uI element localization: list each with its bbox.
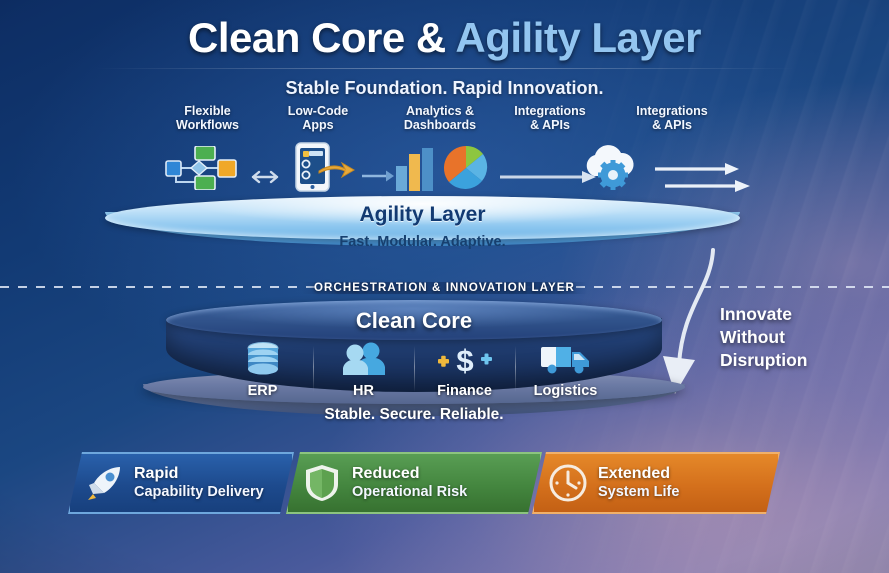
arrow-right-icon bbox=[362, 170, 394, 182]
agility-layer-disc: Agility Layer Fast. Modular. Adaptive. bbox=[105, 196, 740, 254]
pillar-separator bbox=[515, 346, 516, 392]
base-caption: Stable. Secure. Reliable. bbox=[143, 406, 685, 424]
pillar-label: Finance bbox=[419, 383, 511, 399]
benefit-line2: Capability Delivery bbox=[134, 483, 264, 501]
arrow-right-icon bbox=[250, 170, 286, 184]
clean-core-title: Clean Core bbox=[166, 308, 662, 334]
pillar-label: Logistics bbox=[520, 383, 612, 399]
rocket-icon bbox=[84, 463, 124, 503]
truck-icon bbox=[540, 342, 592, 376]
page-subtitle: Stable Foundation. Rapid Innovation. bbox=[0, 78, 889, 99]
pillar-erp[interactable]: ERP bbox=[217, 342, 309, 399]
pillar-hr[interactable]: HR bbox=[318, 342, 410, 399]
pillar-logistics[interactable]: Logistics bbox=[520, 342, 612, 399]
arrows-icon bbox=[655, 162, 750, 194]
pillar-separator bbox=[414, 346, 415, 392]
benefit-line2: System Life bbox=[598, 483, 679, 501]
agility-layer-subtitle: Fast. Modular. Adaptive. bbox=[105, 234, 740, 250]
clock-icon bbox=[548, 463, 588, 503]
pipeline-item-low-code-apps: Low-Code Apps bbox=[268, 104, 368, 132]
dollar-icon: $ bbox=[436, 342, 494, 376]
mobile-app-icon bbox=[290, 142, 358, 192]
clean-core-pillars: ERP HR $ Finance bbox=[166, 342, 662, 404]
pipeline-label: Integrations & APIs bbox=[612, 104, 732, 132]
agility-layer-title: Agility Layer bbox=[105, 203, 740, 227]
title-main: Clean Core & bbox=[188, 14, 455, 61]
innovate-without-disruption-note: Innovate Without Disruption bbox=[720, 303, 870, 372]
benefit-text: Extended System Life bbox=[598, 465, 679, 501]
pillar-label: ERP bbox=[217, 383, 309, 399]
svg-text:$: $ bbox=[456, 343, 473, 376]
database-icon bbox=[245, 342, 281, 376]
benefit-text: Reduced Operational Risk bbox=[352, 465, 467, 501]
benefit-text: Rapid Capability Delivery bbox=[134, 465, 264, 501]
benefits-row: Rapid Capability Delivery Reduced Operat… bbox=[68, 452, 828, 514]
pipeline-label: Integrations & APIs bbox=[495, 104, 605, 132]
charts-icon bbox=[394, 144, 492, 192]
people-icon bbox=[340, 342, 388, 376]
pipeline-label: Analytics & Dashboards bbox=[380, 104, 500, 132]
pipeline-item-integrations-apis-2: Integrations & APIs bbox=[612, 104, 732, 132]
page-title: Clean Core & Agility Layer bbox=[0, 14, 889, 62]
benefit-line1: Extended bbox=[598, 465, 679, 483]
pillar-separator bbox=[313, 346, 314, 392]
pipeline-item-integrations-apis-1: Integrations & APIs bbox=[495, 104, 605, 132]
cloud-gear-icon bbox=[578, 142, 648, 192]
pillar-label: HR bbox=[318, 383, 410, 399]
benefit-rapid-capability-delivery[interactable]: Rapid Capability Delivery bbox=[68, 452, 294, 514]
benefit-line2: Operational Risk bbox=[352, 483, 467, 501]
benefit-line1: Rapid bbox=[134, 465, 264, 483]
pipeline-item-analytics-dashboards: Analytics & Dashboards bbox=[380, 104, 500, 132]
pipeline-item-flexible-workflows: Flexible Workflows bbox=[150, 104, 265, 132]
pipeline-row: Flexible Workflows Low-Code Apps Analyti… bbox=[150, 104, 750, 202]
workflow-icon bbox=[162, 146, 254, 190]
divider-text: ORCHESTRATION & INNOVATION LAYER bbox=[302, 282, 587, 294]
benefit-reduced-operational-risk[interactable]: Reduced Operational Risk bbox=[286, 452, 542, 514]
pipeline-label: Flexible Workflows bbox=[150, 104, 265, 132]
title-accent: Agility Layer bbox=[455, 14, 701, 61]
benefit-line1: Reduced bbox=[352, 465, 467, 483]
shield-icon bbox=[302, 463, 342, 503]
title-divider-line bbox=[95, 68, 795, 69]
pillar-finance[interactable]: $ Finance bbox=[419, 342, 511, 399]
benefit-extended-system-life[interactable]: Extended System Life bbox=[532, 452, 780, 514]
infographic-canvas: Clean Core & Agility Layer Stable Founda… bbox=[0, 0, 889, 573]
clean-core-cylinder: Clean Core ERP bbox=[166, 300, 662, 408]
pipeline-label: Low-Code Apps bbox=[268, 104, 368, 132]
